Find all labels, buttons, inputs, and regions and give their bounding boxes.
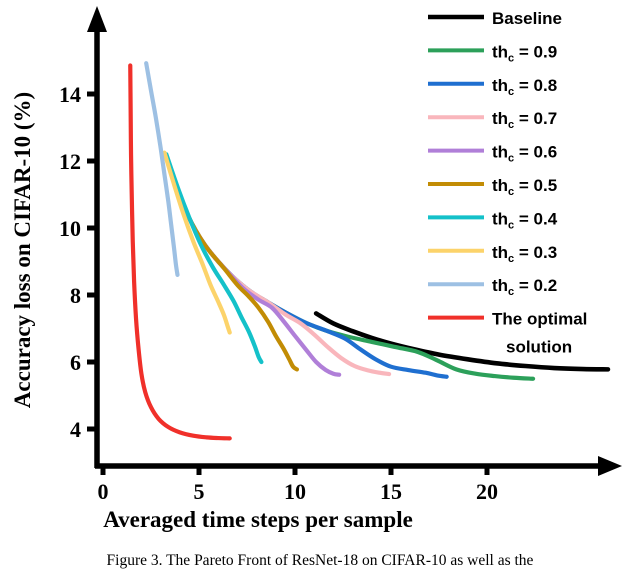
- series-line-th-c-0-5: [172, 176, 297, 369]
- y-tick-label: 10: [59, 216, 81, 241]
- legend-label-9-line2: solution: [506, 338, 572, 357]
- x-tick-label: 10: [284, 479, 306, 504]
- legend-label-0: Baseline: [492, 9, 562, 28]
- x-tick-label: 15: [380, 479, 402, 504]
- legend-label-5: thc = 0.5: [492, 176, 557, 198]
- legend-label-1: thc = 0.9: [492, 42, 557, 64]
- y-axis-title: Accuracy loss on CIFAR-10 (%): [10, 92, 35, 408]
- legend-label-3: thc = 0.7: [492, 109, 557, 131]
- legend-label-7: thc = 0.3: [492, 243, 557, 265]
- series-line-the-optimal-solution: [130, 66, 229, 439]
- x-axis-title: Averaged time steps per sample: [103, 507, 413, 532]
- chart-legend: Baselinethc = 0.9thc = 0.8thc = 0.7thc =…: [428, 9, 587, 357]
- pareto-front-chart: 05101520468101214 Baselinethc = 0.9thc =…: [0, 0, 640, 574]
- x-tick-label: 5: [194, 479, 205, 504]
- tick-labels-layer: 05101520468101214: [59, 82, 498, 504]
- y-tick-label: 6: [70, 350, 81, 375]
- x-tick-label: 0: [98, 479, 109, 504]
- y-tick-label: 12: [59, 149, 81, 174]
- legend-label-6: thc = 0.4: [492, 209, 558, 231]
- x-axis-arrow: [598, 456, 622, 476]
- y-axis-arrow: [87, 6, 107, 32]
- y-tick-label: 8: [70, 283, 81, 308]
- y-tick-label: 14: [59, 82, 81, 107]
- figure-caption: Figure 3. The Pareto Front of ResNet-18 …: [0, 552, 640, 570]
- figure-container: 05101520468101214 Baselinethc = 0.9thc =…: [0, 0, 640, 574]
- series-line-th-c-0-9: [172, 176, 533, 379]
- x-tick-label: 20: [476, 479, 498, 504]
- legend-label-8: thc = 0.2: [492, 276, 557, 298]
- y-tick-label: 4: [70, 417, 81, 442]
- legend-label-2: thc = 0.8: [492, 76, 557, 98]
- legend-label-9: The optimal: [492, 310, 587, 329]
- legend-label-4: thc = 0.6: [492, 143, 557, 165]
